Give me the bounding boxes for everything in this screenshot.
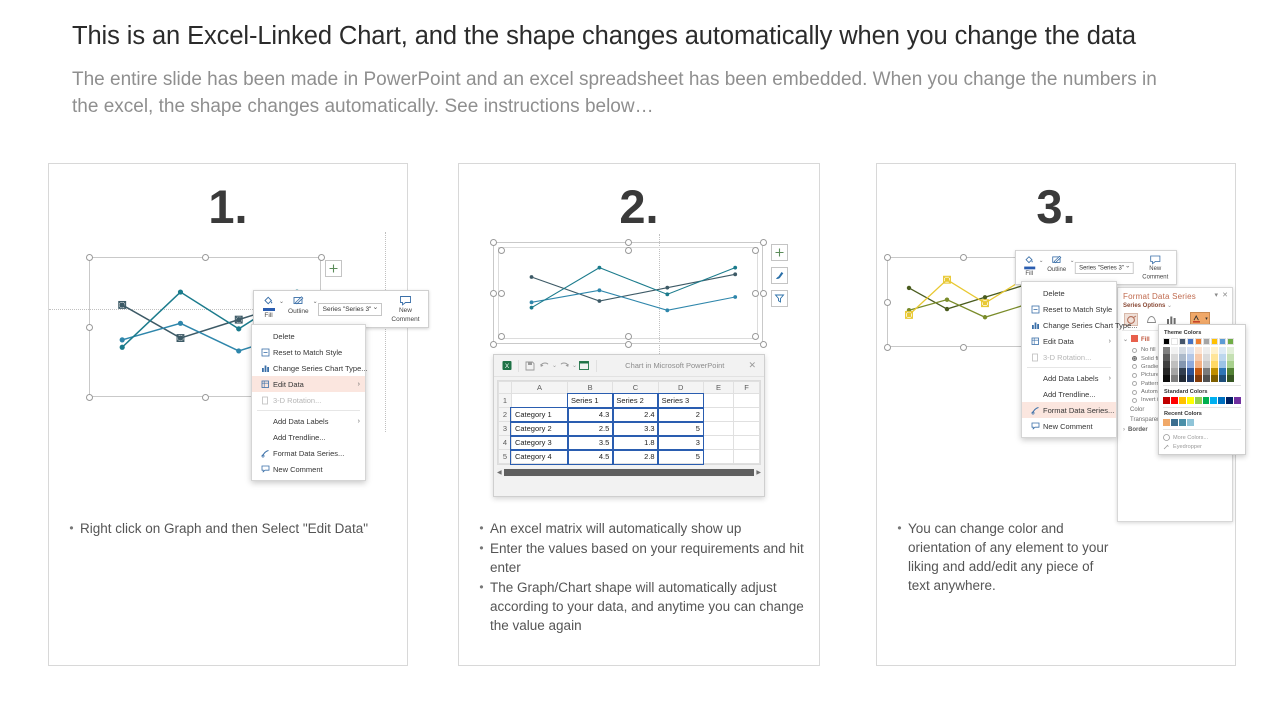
color-swatch[interactable] <box>1219 347 1226 354</box>
chevron-right-icon[interactable]: › <box>1123 427 1125 433</box>
resize-handle[interactable] <box>960 344 967 351</box>
color-swatch[interactable] <box>1219 375 1226 382</box>
color-swatch[interactable] <box>1227 338 1234 345</box>
color-swatch[interactable] <box>1211 347 1218 354</box>
color-swatch[interactable] <box>1226 397 1233 404</box>
resize-handle[interactable] <box>490 239 497 246</box>
table-row[interactable]: 3 Category 22.53.35 <box>499 422 760 436</box>
cell-F2[interactable] <box>734 408 760 422</box>
cell-value-1-1[interactable]: 4.3 <box>568 408 613 422</box>
chevron-right-icon: › <box>358 418 360 425</box>
resize-handle[interactable] <box>752 290 759 297</box>
resize-handle[interactable] <box>884 254 891 261</box>
standard-colors-header: Standard Colors <box>1164 389 1241 395</box>
menu-item-label: Edit Data <box>1043 337 1074 346</box>
color-swatch[interactable] <box>1163 361 1170 368</box>
menu-item-label: Change Series Chart Type... <box>1043 321 1138 330</box>
resize-handle[interactable] <box>960 254 967 261</box>
cell-value-2-3[interactable]: 5 <box>658 422 703 436</box>
color-swatch[interactable] <box>1234 397 1241 404</box>
edit-data-icon <box>258 380 273 389</box>
color-swatch[interactable] <box>1227 347 1234 354</box>
chart-elements-button[interactable] <box>325 260 342 277</box>
radio-button[interactable] <box>1132 364 1137 369</box>
resize-handle[interactable] <box>884 344 891 351</box>
resize-handle[interactable] <box>86 394 93 401</box>
more-colors-label: More Colors... <box>1173 435 1208 441</box>
resize-handle[interactable] <box>884 299 891 306</box>
bullet-dot: • <box>63 519 80 538</box>
funnel-icon <box>774 293 785 304</box>
cell-category-2[interactable]: Category 2 <box>511 422 567 436</box>
fill-option-label: No fill <box>1141 347 1156 353</box>
menu-divider <box>1027 367 1111 368</box>
resize-handle[interactable] <box>625 341 632 348</box>
outline-tool[interactable]: Outline <box>1044 254 1070 282</box>
color-swatch[interactable] <box>1179 347 1186 354</box>
color-swatch[interactable] <box>1163 354 1170 361</box>
table-row[interactable]: 1 Series 1Series 2Series 3 <box>499 394 760 408</box>
guide-line-vertical <box>385 232 386 432</box>
color-swatch[interactable] <box>1195 368 1202 375</box>
radio-button[interactable] <box>1132 381 1137 386</box>
pane-options-caret-icon[interactable]: ▾ <box>1214 291 1218 299</box>
radio-button[interactable] <box>1132 390 1137 395</box>
standard-colors-row[interactable] <box>1163 397 1241 404</box>
theme-shade-row[interactable] <box>1163 354 1241 361</box>
spreadsheet-table[interactable]: ABCDEF 1 Series 1Series 2Series 3 2 Cate… <box>498 381 760 464</box>
bullet-text: The Graph/Chart shape will automatically… <box>490 578 809 635</box>
color-swatch[interactable] <box>1187 338 1194 345</box>
cell-header-3[interactable]: Series 3 <box>658 394 703 408</box>
cell-F4[interactable] <box>734 436 760 450</box>
resize-handle[interactable] <box>752 333 759 340</box>
color-swatch[interactable] <box>1227 368 1234 375</box>
horizontal-scrollbar[interactable]: ◀ ▶ <box>497 468 761 477</box>
menu-item-change-series-chart-type[interactable]: Change Series Chart Type... <box>252 360 365 376</box>
panel-2-number: 2. <box>459 179 819 234</box>
divider <box>1163 429 1241 430</box>
menu-item-label: 3-D Rotation... <box>273 396 321 405</box>
menu-item-format-data-series[interactable]: Format Data Series... <box>1022 402 1116 418</box>
menu-item-add-data-labels[interactable]: Add Data Labels › <box>252 413 365 429</box>
border-label: Border <box>1128 427 1148 433</box>
cell-E1[interactable] <box>703 394 733 408</box>
theme-shade-row[interactable] <box>1163 375 1241 382</box>
color-swatch[interactable] <box>1179 375 1186 382</box>
radio-button[interactable] <box>1132 373 1137 378</box>
theme-colors-grid[interactable] <box>1163 338 1241 382</box>
menu-item-change-series-chart-type[interactable]: Change Series Chart Type... <box>1022 317 1116 333</box>
column-header-B[interactable]: B <box>568 382 613 394</box>
chevron-right-icon: › <box>1109 338 1111 345</box>
cell-E3[interactable] <box>703 422 733 436</box>
menu-item-edit-data[interactable]: Edit Data › <box>252 376 365 392</box>
resize-handle[interactable] <box>625 333 632 340</box>
panel-1-number: 1. <box>49 179 407 234</box>
color-swatch[interactable] <box>1163 347 1170 354</box>
color-swatch[interactable] <box>1211 368 1218 375</box>
menu-item-label: Add Trendline... <box>1043 390 1096 399</box>
color-swatch[interactable] <box>1203 338 1210 345</box>
list-item: • Enter the values based on your require… <box>473 539 809 577</box>
color-swatch[interactable] <box>1179 338 1186 345</box>
menu-item-label: New Comment <box>1043 422 1093 431</box>
resize-handle[interactable] <box>202 254 209 261</box>
color-swatch[interactable] <box>1219 361 1226 368</box>
menu-divider <box>257 410 360 411</box>
eyedropper-label: Eyedropper <box>1173 444 1202 450</box>
color-swatch[interactable] <box>1227 361 1234 368</box>
column-header-C[interactable]: C <box>613 382 658 394</box>
new-comment-button[interactable]: New Comment <box>1139 254 1172 282</box>
cell-E4[interactable] <box>703 436 733 450</box>
scroll-left-arrow-icon[interactable]: ◀ <box>497 469 502 476</box>
resize-handle[interactable] <box>498 290 505 297</box>
column-header-F[interactable]: F <box>734 382 760 394</box>
bullet-dot: • <box>473 578 490 635</box>
color-swatch[interactable] <box>1219 354 1226 361</box>
outline-tool[interactable]: Outline <box>284 294 313 324</box>
cell-F3[interactable] <box>734 422 760 436</box>
menu-item-label: Edit Data <box>273 380 304 389</box>
cell-A1[interactable] <box>511 394 567 408</box>
series-select[interactable]: Series "Series 3" <box>318 303 383 316</box>
theme-shade-row[interactable] <box>1163 368 1241 375</box>
menu-item-reset-to-match-style[interactable]: Reset to Match Style <box>1022 301 1116 317</box>
menu-item-format-data-series[interactable]: Format Data Series... <box>252 445 365 461</box>
cell-E2[interactable] <box>703 408 733 422</box>
page-title: This is an Excel-Linked Chart, and the s… <box>72 22 1212 51</box>
cell-category-3[interactable]: Category 3 <box>511 436 567 450</box>
comment-balloon-icon <box>1028 422 1043 430</box>
column-header-E[interactable]: E <box>703 382 733 394</box>
color-swatch[interactable] <box>1203 354 1210 361</box>
color-swatch[interactable] <box>1203 375 1210 382</box>
color-swatch[interactable] <box>1219 338 1226 345</box>
theme-shade-row[interactable] <box>1163 347 1241 354</box>
resize-handle[interactable] <box>752 247 759 254</box>
row-header[interactable]: 2 <box>499 408 512 422</box>
fill-label: Fill <box>264 312 272 320</box>
color-picker-flyout[interactable]: Theme Colors Standard Colors Recent Colo… <box>1158 324 1246 455</box>
eyedropper-item[interactable]: Eyedropper <box>1163 442 1241 451</box>
bullet-text: Enter the values based on your requireme… <box>490 539 809 577</box>
color-swatch[interactable] <box>1179 419 1186 426</box>
cell-header-1[interactable]: Series 1 <box>568 394 613 408</box>
list-item: • An excel matrix will automatically sho… <box>473 519 809 538</box>
menu-item-delete[interactable]: Delete <box>252 328 365 344</box>
scrollbar-thumb[interactable] <box>504 469 755 476</box>
color-swatch[interactable] <box>1171 361 1178 368</box>
cell-value-2-1[interactable]: 2.5 <box>568 422 613 436</box>
bullet-text: An excel matrix will automatically show … <box>490 519 809 538</box>
resize-handle[interactable] <box>86 254 93 261</box>
radio-button[interactable] <box>1132 348 1137 353</box>
color-swatch[interactable] <box>1211 338 1218 345</box>
pencil-outline-icon <box>1051 255 1063 266</box>
table-row[interactable]: 2 Category 14.32.42 <box>499 408 760 422</box>
color-swatch[interactable] <box>1171 338 1178 345</box>
color-swatch[interactable] <box>1171 397 1178 404</box>
fill-section-label: Fill <box>1141 337 1150 343</box>
save-icon[interactable] <box>522 359 537 373</box>
color-swatch[interactable] <box>1187 354 1194 361</box>
chart-type-icon <box>258 364 273 373</box>
cell-value-1-2[interactable]: 2.4 <box>613 408 658 422</box>
panel-3-number: 3. <box>877 179 1235 234</box>
menu-item-label: Reset to Match Style <box>273 348 342 357</box>
color-swatch[interactable] <box>1203 397 1210 404</box>
color-swatch[interactable] <box>1195 361 1202 368</box>
color-swatch[interactable] <box>1179 354 1186 361</box>
color-swatch[interactable] <box>1163 375 1170 382</box>
comment-balloon-icon <box>1149 255 1161 265</box>
resize-handle[interactable] <box>498 247 505 254</box>
resize-handle[interactable] <box>625 239 632 246</box>
color-swatch[interactable] <box>1203 347 1210 354</box>
color-swatch[interactable] <box>1211 375 1218 382</box>
new-comment-label-1: New <box>1149 266 1161 273</box>
resize-handle[interactable] <box>498 333 505 340</box>
divider <box>1163 407 1241 408</box>
panel-step-1: 1. Fill ⌄ <box>48 163 408 666</box>
resize-handle[interactable] <box>202 394 209 401</box>
divider <box>1163 385 1241 386</box>
mini-toolbar-1[interactable]: Fill ⌄ Outline ⌄ Series "Series 3" New C… <box>253 290 429 328</box>
cell-value-4-1[interactable]: 4.5 <box>568 450 613 464</box>
menu-item-label: Add Data Labels <box>1043 374 1098 383</box>
color-swatch[interactable] <box>1227 354 1234 361</box>
resize-handle[interactable] <box>318 254 325 261</box>
mini-toolbar-3[interactable]: Fill ⌄ Outline ⌄ Series "Series 3" New C… <box>1015 250 1177 285</box>
reset-style-icon <box>1028 305 1043 314</box>
color-swatch[interactable] <box>1187 368 1194 375</box>
color-swatch[interactable] <box>1210 397 1217 404</box>
color-swatch[interactable] <box>1187 397 1194 404</box>
menu-item-edit-data[interactable]: Edit Data › <box>1022 333 1116 349</box>
menu-item-label: Change Series Chart Type... <box>273 364 368 373</box>
chart-filters-button[interactable] <box>771 290 788 307</box>
resize-handle[interactable] <box>760 290 767 297</box>
color-swatch[interactable] <box>1203 361 1210 368</box>
resize-handle[interactable] <box>86 324 93 331</box>
panel-1-bullets: • Right click on Graph and then Select "… <box>63 519 397 539</box>
color-swatch[interactable] <box>1163 419 1170 426</box>
pencil-outline-icon <box>292 295 305 307</box>
pane-subtitle[interactable]: Series Options ⌄ <box>1118 302 1232 311</box>
bullet-dot: • <box>473 519 490 538</box>
color-swatch[interactable] <box>1211 361 1218 368</box>
color-swatch[interactable] <box>1195 347 1202 354</box>
resize-handle[interactable] <box>490 290 497 297</box>
menu-item-add-trendline[interactable]: Add Trendline... <box>252 429 365 445</box>
color-swatch[interactable] <box>1179 361 1186 368</box>
fill-swatch-icon <box>1131 335 1138 344</box>
new-comment-button[interactable]: New Comment <box>387 294 423 324</box>
color-swatch[interactable] <box>1195 375 1202 382</box>
color-swatch[interactable] <box>1163 338 1170 345</box>
menu-item-add-trendline[interactable]: Add Trendline... <box>1022 386 1116 402</box>
color-swatch[interactable] <box>1163 368 1170 375</box>
color-swatch[interactable] <box>1179 397 1186 404</box>
cell-value-2-2[interactable]: 3.3 <box>613 422 658 436</box>
fill-tool[interactable]: Fill <box>1020 254 1039 282</box>
cell-category-4[interactable]: Category 4 <box>511 450 567 464</box>
chevron-down-icon[interactable]: ⌄ <box>1167 303 1172 309</box>
series-options-label: Series Options <box>1123 303 1165 309</box>
color-swatch[interactable] <box>1187 347 1194 354</box>
cell-F1[interactable] <box>734 394 760 408</box>
list-item: • The Graph/Chart shape will automatical… <box>473 578 809 635</box>
divider <box>596 360 597 372</box>
svg-text:X: X <box>505 363 510 370</box>
slide-root: This is an Excel-Linked Chart, and the s… <box>0 0 1280 720</box>
menu-item-label: New Comment <box>273 465 323 474</box>
menu-item-label: 3-D Rotation... <box>1043 353 1091 362</box>
chevron-right-icon: › <box>1109 375 1111 382</box>
cell-value-1-3[interactable]: 2 <box>658 408 703 422</box>
menu-item-label: Delete <box>273 332 295 341</box>
resize-handle[interactable] <box>625 247 632 254</box>
cell-E5[interactable] <box>703 450 733 464</box>
row-header[interactable]: 5 <box>499 450 512 464</box>
menu-item-reset-to-match-style[interactable]: Reset to Match Style <box>252 344 365 360</box>
color-swatch[interactable] <box>1171 375 1178 382</box>
corner-cell[interactable] <box>499 382 512 394</box>
recent-colors-header: Recent Colors <box>1164 411 1241 417</box>
color-swatch[interactable] <box>1195 397 1202 404</box>
menu-item-label: Reset to Match Style <box>1043 305 1112 314</box>
resize-handle[interactable] <box>490 341 497 348</box>
cell-value-4-2[interactable]: 2.8 <box>613 450 658 464</box>
excel-window[interactable]: X ⌄ ⌄ Chart in Microsoft PowerPoi <box>493 354 765 497</box>
color-swatch[interactable] <box>1171 354 1178 361</box>
theme-base-row[interactable] <box>1163 338 1241 345</box>
comment-balloon-icon <box>258 465 273 473</box>
color-swatch[interactable] <box>1171 419 1178 426</box>
theme-shade-row[interactable] <box>1163 361 1241 368</box>
chart-elements-button[interactable] <box>771 244 788 261</box>
color-swatch[interactable] <box>1187 419 1194 426</box>
series-select[interactable]: Series "Series 3" <box>1074 262 1134 274</box>
bullet-dot: • <box>891 519 908 595</box>
close-icon[interactable]: ✕ <box>1222 291 1228 299</box>
cell-value-3-2[interactable]: 1.8 <box>613 436 658 450</box>
color-swatch[interactable] <box>1195 338 1202 345</box>
context-menu-3[interactable]: Delete Reset to Match Style Change Serie… <box>1021 281 1117 438</box>
resize-handle[interactable] <box>760 239 767 246</box>
bullet-dot: • <box>473 539 490 577</box>
row-header[interactable]: 4 <box>499 436 512 450</box>
table-row[interactable]: 4 Category 33.51.83 <box>499 436 760 450</box>
table-row[interactable]: 5 Category 44.52.85 <box>499 450 760 464</box>
color-swatch[interactable] <box>1179 368 1186 375</box>
effects-tab[interactable] <box>1144 313 1158 326</box>
panel-2-bullets: • An excel matrix will automatically sho… <box>473 519 809 636</box>
color-swatch[interactable] <box>1171 347 1178 354</box>
chevron-down-icon[interactable]: ▾ <box>1205 316 1208 322</box>
cell-category-1[interactable]: Category 1 <box>511 408 567 422</box>
scroll-right-arrow-icon[interactable]: ▶ <box>756 469 761 476</box>
undo-icon[interactable] <box>537 359 552 373</box>
cell-value-3-1[interactable]: 3.5 <box>568 436 613 450</box>
cell-value-4-3[interactable]: 5 <box>658 450 703 464</box>
excel-window-title: Chart in Microsoft PowerPoint <box>601 361 748 370</box>
paint-bucket-icon <box>262 295 275 307</box>
fill-tool[interactable]: Fill <box>258 294 279 324</box>
chevron-right-icon: › <box>358 381 360 388</box>
open-in-excel-icon[interactable] <box>577 359 592 373</box>
close-icon[interactable]: ✕ <box>748 360 758 371</box>
color-swatch[interactable] <box>1195 354 1202 361</box>
chevron-down-icon[interactable]: ⌄ <box>1123 336 1128 343</box>
edit-data-icon <box>1028 337 1043 346</box>
list-item: • Right click on Graph and then Select "… <box>63 519 397 538</box>
column-header-A[interactable]: A <box>511 382 567 394</box>
color-swatch[interactable] <box>1187 375 1194 382</box>
radio-button[interactable] <box>1132 356 1137 361</box>
more-colors-item[interactable]: More Colors... <box>1163 433 1241 442</box>
menu-item-label: Add Data Labels <box>273 417 328 426</box>
context-menu-1[interactable]: Delete Reset to Match Style Change Serie… <box>251 324 366 481</box>
new-comment-label-2: Comment <box>391 316 419 324</box>
new-comment-label-2: Comment <box>1142 273 1168 280</box>
resize-handle[interactable] <box>760 341 767 348</box>
new-comment-label-1: New <box>399 307 412 315</box>
recent-colors-row[interactable] <box>1163 419 1241 426</box>
cell-header-2[interactable]: Series 2 <box>613 394 658 408</box>
color-swatch[interactable] <box>1171 368 1178 375</box>
more-colors-icon <box>1163 434 1170 441</box>
menu-item-3-d-rotation[interactable]: 3-D Rotation... <box>1022 349 1116 365</box>
row-header[interactable]: 1 <box>499 394 512 408</box>
color-swatch[interactable] <box>1187 361 1194 368</box>
color-swatch[interactable] <box>1227 375 1234 382</box>
chart-styles-button[interactable] <box>771 267 788 284</box>
cell-value-3-3[interactable]: 3 <box>658 436 703 450</box>
bullet-text: You can change color and orientation of … <box>908 519 1113 595</box>
outline-label: Outline <box>1047 267 1066 274</box>
chart-selection-frame-2[interactable] <box>493 242 763 344</box>
row-header[interactable]: 3 <box>499 422 512 436</box>
excel-grid[interactable]: ABCDEF 1 Series 1Series 2Series 3 2 Cate… <box>497 380 761 465</box>
menu-item-delete[interactable]: Delete <box>1022 285 1116 301</box>
rotation-icon <box>258 396 273 405</box>
page-subtitle: The entire slide has been made in PowerP… <box>72 66 1187 120</box>
color-swatch[interactable] <box>1218 397 1225 404</box>
menu-item-new-comment[interactable]: New Comment <box>252 461 365 477</box>
list-item: • You can change color and orientation o… <box>891 519 1225 595</box>
color-swatch[interactable] <box>1219 368 1226 375</box>
column-header-D[interactable]: D <box>658 382 703 394</box>
menu-item-new-comment[interactable]: New Comment <box>1022 418 1116 434</box>
reset-style-icon <box>258 348 273 357</box>
menu-item-label: Format Data Series... <box>273 449 344 458</box>
paint-bucket-icon <box>1023 255 1035 266</box>
redo-icon[interactable] <box>557 359 572 373</box>
color-swatch[interactable] <box>1211 354 1218 361</box>
excel-titlebar: X ⌄ ⌄ Chart in Microsoft PowerPoi <box>494 355 764 377</box>
menu-item-3-d-rotation[interactable]: 3-D Rotation... <box>252 392 365 408</box>
color-swatch[interactable] <box>1203 368 1210 375</box>
cell-F5[interactable] <box>734 450 760 464</box>
outline-label: Outline <box>288 308 309 316</box>
color-swatch[interactable] <box>1163 397 1170 404</box>
radio-button[interactable] <box>1132 398 1137 403</box>
format-series-icon <box>258 449 273 458</box>
menu-item-add-data-labels[interactable]: Add Data Labels › <box>1022 370 1116 386</box>
